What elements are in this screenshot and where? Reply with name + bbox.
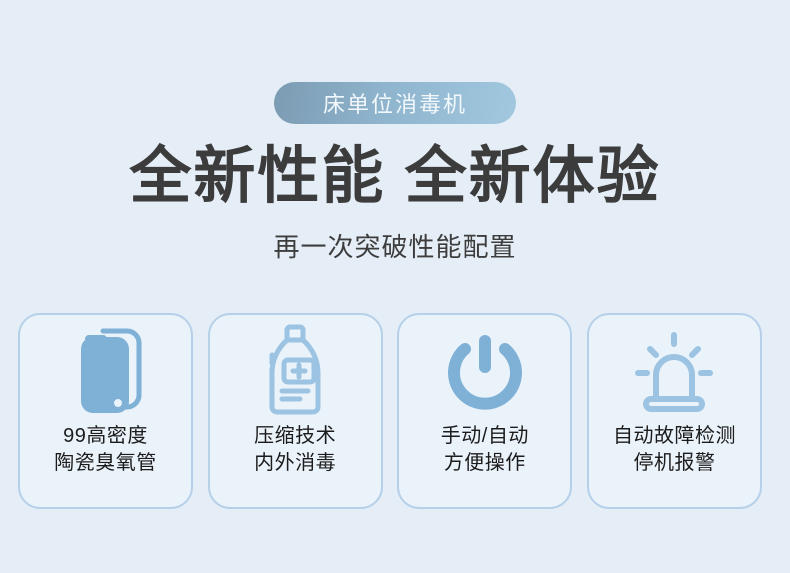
page-title: 全新性能 全新体验 <box>129 144 660 209</box>
feature-card-text: 压缩技术 内外消毒 <box>254 423 336 477</box>
badge-container: 床单位消毒机 <box>0 82 790 124</box>
promo-banner: 床单位消毒机 全新性能 全新体验 再一次突破性能配置 99高密度 陶瓷臭氧管 <box>0 0 790 573</box>
feature-card-text: 99高密度 陶瓷臭氧管 <box>54 423 157 477</box>
feature-line-1: 99高密度 <box>63 425 148 447</box>
feature-line-1: 压缩技术 <box>254 425 336 447</box>
power-button-icon <box>443 319 527 423</box>
feature-card-text: 手动/自动 方便操作 <box>441 423 529 477</box>
ozone-tube-icon <box>63 319 149 423</box>
feature-card-text: 自动故障检测 停机报警 <box>613 423 736 477</box>
feature-card-ozone-tube: 99高密度 陶瓷臭氧管 <box>18 313 193 509</box>
feature-line-2: 陶瓷臭氧管 <box>54 450 157 477</box>
page-subtitle: 再一次突破性能配置 <box>273 227 516 264</box>
feature-line-2: 方便操作 <box>441 450 529 477</box>
product-category-badge: 床单位消毒机 <box>274 82 516 124</box>
feature-line-1: 手动/自动 <box>441 425 529 447</box>
feature-card-list: 99高密度 陶瓷臭氧管 压缩技术 <box>18 313 762 509</box>
alarm-beacon-icon <box>628 319 720 423</box>
feature-card-power: 手动/自动 方便操作 <box>397 313 572 509</box>
disinfectant-bottle-icon <box>255 319 335 423</box>
feature-card-disinfectant: 压缩技术 内外消毒 <box>208 313 383 509</box>
feature-line-2: 停机报警 <box>613 450 736 477</box>
feature-line-2: 内外消毒 <box>254 450 336 477</box>
feature-line-1: 自动故障检测 <box>613 425 736 447</box>
feature-card-alarm: 自动故障检测 停机报警 <box>587 313 762 509</box>
